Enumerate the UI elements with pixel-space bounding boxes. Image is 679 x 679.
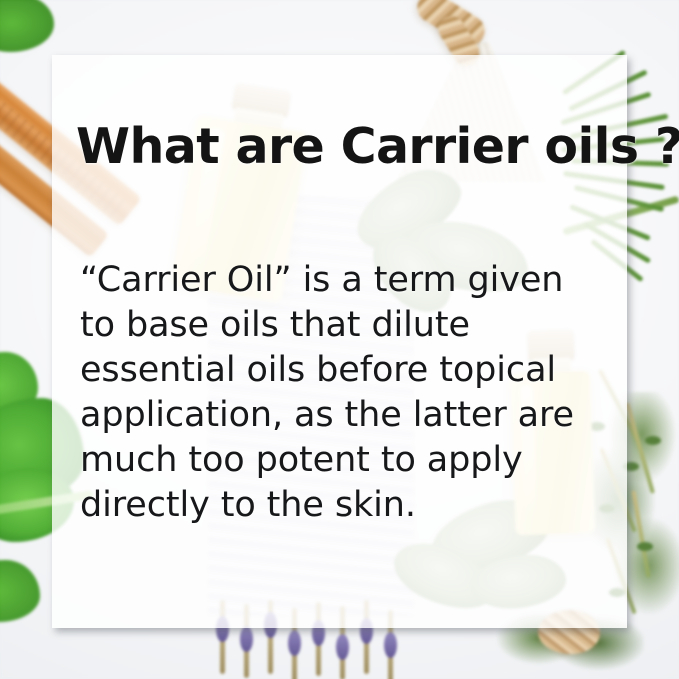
body-line: essential oils before topical: [80, 348, 610, 393]
page-title: What are Carrier oils ?: [76, 118, 679, 175]
text-overlay-card: What are Carrier oils ? “Carrier Oil” is…: [52, 55, 627, 628]
body-line: application, as the latter are: [80, 393, 610, 438]
body-line: much too potent to apply: [80, 438, 610, 483]
body-paragraph: “Carrier Oil” is a term given to base oi…: [80, 258, 610, 528]
body-line: directly to the skin.: [80, 483, 610, 528]
body-line: to base oils that dilute: [80, 303, 610, 348]
body-line: “Carrier Oil” is a term given: [80, 258, 610, 303]
infographic-image: What are Carrier oils ? “Carrier Oil” is…: [0, 0, 679, 679]
